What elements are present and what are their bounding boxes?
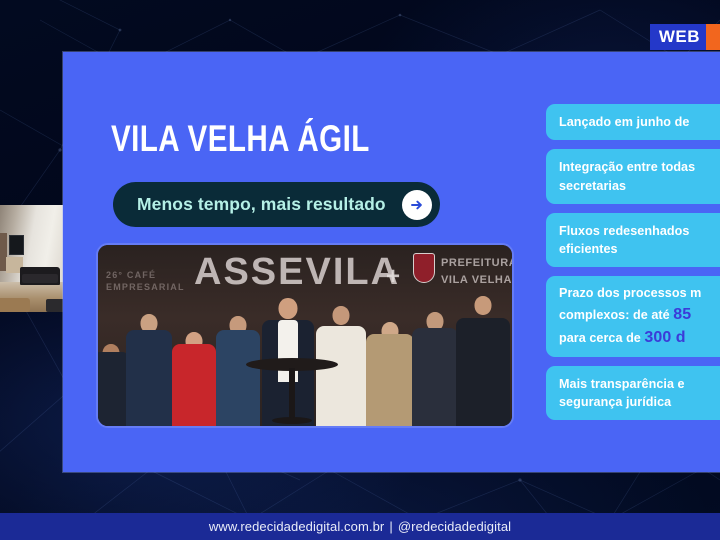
footer-handle: @redecidadedigital — [398, 519, 511, 534]
person — [126, 310, 172, 426]
person — [172, 318, 216, 426]
bullet-card-line: Prazo dos processos m — [559, 286, 701, 300]
room-table — [0, 298, 30, 312]
person — [412, 306, 458, 426]
slide-subtitle-text: Menos tempo, mais resultado — [137, 194, 386, 215]
bullet-card-highlight: 300 d — [644, 329, 685, 346]
event-photo: 26° CAFÉEMPRESARIAL ASSEVILA + PREFEITUR… — [98, 245, 512, 426]
room-chair — [46, 299, 64, 312]
bullet-card-line: complexos: de até — [559, 308, 673, 322]
presentation-screen: VILA VELHA ÁGIL Menos tempo, mais result… — [0, 0, 720, 540]
arrow-right-icon — [402, 190, 432, 220]
slide-bullet-cards: Lançado em junho de Integração entre tod… — [546, 104, 720, 429]
footer-credits: www.redecidadedigital.com.br | @redecida… — [0, 513, 720, 540]
bullet-card-line: Lançado em junho de — [559, 115, 689, 129]
web-badge: WEB — [650, 24, 720, 50]
bullet-card: Fluxos redesenhados eficientes — [546, 213, 720, 268]
room-sofa — [20, 267, 60, 285]
bullet-card-highlight: 85 — [673, 306, 691, 323]
web-badge-label: WEB — [650, 24, 706, 50]
signing-table — [246, 358, 338, 424]
bullet-card: Integração entre todas secretarias — [546, 149, 720, 204]
bullet-card-line: Fluxos redesenhados — [559, 224, 689, 238]
bullet-card-line: eficientes — [559, 242, 618, 256]
slide-subtitle-pill[interactable]: Menos tempo, mais resultado — [113, 182, 440, 227]
wall-tv — [9, 235, 24, 255]
person — [366, 314, 414, 426]
participant-video-thumbnail[interactable] — [0, 205, 64, 312]
bullet-card-line: para cerca de — [559, 331, 644, 345]
footer-website: www.redecidadedigital.com.br — [209, 519, 385, 534]
bullet-card-line: segurança jurídica — [559, 395, 671, 409]
bullet-card: Prazo dos processos m complexos: de até … — [546, 276, 720, 357]
bullet-card: Mais transparência e segurança jurídica — [546, 366, 720, 421]
slide-title: VILA VELHA ÁGIL — [111, 120, 370, 157]
bullet-card-line: Integração entre todas — [559, 160, 695, 174]
bullet-card: Lançado em junho de — [546, 104, 720, 140]
person — [456, 296, 510, 426]
bullet-card-line: Mais transparência e — [559, 377, 685, 391]
bullet-card-line: secretarias — [559, 179, 626, 193]
footer-separator: | — [384, 519, 397, 534]
web-badge-accent — [706, 24, 720, 50]
